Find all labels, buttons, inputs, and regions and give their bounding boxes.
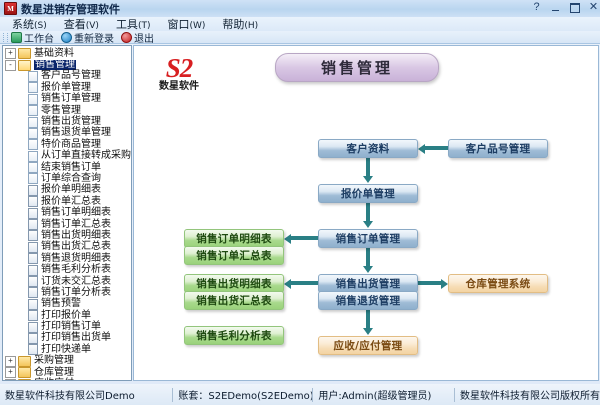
workbench-button[interactable]: 工作台 [11, 30, 54, 45]
relogin-icon [61, 32, 72, 43]
tree-item[interactable]: 销售预警 [16, 299, 131, 310]
folder-icon [18, 48, 31, 59]
tree-item-label: 销售毛利分析表 [41, 265, 111, 275]
exit-icon [121, 32, 132, 43]
flow-box-label: 销售订单明细表 [196, 231, 272, 246]
tree-item-label: 结束销售订单 [41, 163, 101, 173]
report-icon [28, 310, 38, 321]
tree-item[interactable]: 打印快递单 [16, 344, 131, 355]
close-button[interactable]: ✕ [587, 1, 600, 14]
tree-item[interactable]: +基础资料 [5, 48, 131, 59]
flow-box-label: 应收/应付管理 [334, 338, 403, 353]
tree-expander-spacer [16, 118, 25, 127]
tree-item[interactable]: 销售毛利分析表 [16, 264, 131, 275]
brand-logo: S2 数星软件 [144, 56, 214, 92]
status-bookset: 账套：S2EDemo(S2EDemo) [172, 388, 312, 402]
arrow-delivery-to-warehouse [418, 281, 441, 285]
flow-box-label: 报价单管理 [341, 186, 395, 201]
tree-item-label: 销售退货明细表 [41, 254, 111, 264]
restore-button[interactable] [568, 1, 581, 14]
arrowhead-salesorder-to-orderreport [284, 234, 291, 244]
toolbar-grip[interactable] [3, 33, 8, 42]
flow-box-label: 销售出货管理 [336, 276, 401, 291]
document-icon [28, 162, 38, 173]
close-icon: ✕ [589, 2, 598, 13]
tree-expander-icon[interactable]: - [5, 60, 16, 71]
arrow-custitem-to-customer [425, 146, 448, 150]
status-company: 数星软件科技有限公司Demo [0, 388, 172, 402]
flow-box-order-summary-report[interactable]: 销售订单汇总表 [184, 246, 284, 265]
report-icon [28, 322, 38, 333]
tree-item[interactable]: 特价商品管理 [16, 139, 131, 150]
tree-expander-spacer [16, 140, 25, 149]
minimize-icon [552, 10, 559, 11]
tree-expander-spacer [16, 163, 25, 172]
arrow-salesorder-to-delivery [366, 248, 370, 267]
tree-item[interactable]: +仓库管理 [5, 367, 131, 378]
tree-item[interactable]: 销售出货明细表 [16, 230, 131, 241]
arrow-quotation-to-salesorder [366, 203, 370, 222]
tree-expander-spacer [16, 311, 25, 320]
tree-item[interactable]: 销售退货明细表 [16, 253, 131, 264]
tree-expander-spacer [16, 95, 25, 104]
exit-label: 退出 [134, 30, 154, 45]
tree-item-label: 销售订单汇总表 [41, 220, 111, 230]
report-icon [28, 219, 38, 230]
tree-item[interactable]: 客户品号管理 [16, 71, 131, 82]
document-icon [28, 128, 38, 139]
report-icon [28, 253, 38, 264]
tree-expander-spacer [16, 288, 25, 297]
flow-box-customer-item-mgmt[interactable]: 客户品号管理 [448, 139, 548, 158]
tree-item[interactable]: 订单综合查询 [16, 173, 131, 184]
tree-item-label: 销售订单分析表 [41, 288, 111, 298]
menu-window-mnemonic: (W) [189, 21, 205, 31]
tree-item-label: 采购管理 [34, 356, 74, 366]
document-icon [28, 139, 38, 150]
tree-expander-spacer [16, 83, 25, 92]
tree-expander-spacer [16, 197, 25, 206]
tree-item-label: 客户品号管理 [41, 71, 101, 81]
arrow-delivery-to-shipreport [291, 281, 318, 285]
tree-expander-spacer [16, 334, 25, 343]
tree-item[interactable]: 销售订单分析表 [16, 287, 131, 298]
report-icon [28, 287, 38, 298]
menu-help-mnemonic: (H) [244, 21, 258, 31]
tree-item-label: 特价商品管理 [41, 140, 101, 150]
menu-help[interactable]: 帮助(H) [222, 16, 258, 32]
workbench-label: 工作台 [24, 30, 54, 45]
tree-item[interactable]: 销售订单明细表 [16, 207, 131, 218]
report-icon [28, 344, 38, 355]
report-icon [28, 242, 38, 253]
tree-item-label: 销售出货管理 [41, 117, 101, 127]
tree-item-label: 应收应付 [34, 379, 74, 381]
arrowhead-customer-to-quotation [363, 176, 373, 183]
flow-box-gross-profit-report[interactable]: 销售毛利分析表 [184, 326, 284, 345]
flow-box-label: 销售退货管理 [336, 293, 401, 308]
report-icon [28, 333, 38, 344]
menu-help-label: 帮助 [222, 18, 244, 31]
logo-subtitle: 数星软件 [144, 81, 214, 92]
tree-expander-spacer [16, 254, 25, 263]
flow-box-label: 销售毛利分析表 [196, 328, 272, 343]
tree-expander-icon[interactable]: + [5, 48, 16, 59]
flow-box-quotation-mgmt[interactable]: 报价单管理 [318, 184, 418, 203]
report-icon [28, 230, 38, 241]
report-icon [28, 276, 38, 287]
tree-expander-spacer [16, 220, 25, 229]
tree-item[interactable]: 打印报价单 [16, 310, 131, 321]
document-icon [28, 105, 38, 116]
tree-expander-spacer [16, 345, 25, 354]
arrowhead-return-to-arap [363, 328, 373, 335]
flow-box-label: 销售出货汇总表 [196, 293, 272, 308]
module-tree[interactable]: +基础资料-销售管理客户品号管理报价单管理销售订单管理零售管理销售出货管理销售退… [3, 46, 131, 381]
report-icon [28, 208, 38, 219]
arrow-return-to-arap [366, 310, 370, 329]
flow-box-label: 仓库管理系统 [466, 276, 531, 291]
arrowhead-delivery-to-shipreport [284, 279, 291, 289]
tree-item-label: 订货未交汇总表 [41, 277, 111, 287]
tree-expander-spacer [16, 72, 25, 81]
help-button[interactable]: ? [530, 1, 543, 14]
flow-box-sales-return-mgmt[interactable]: 销售退货管理 [318, 291, 418, 310]
tree-item[interactable]: 销售订单汇总表 [16, 219, 131, 230]
tree-expander-spacer [16, 300, 25, 309]
tree-item-label: 销售订单管理 [41, 94, 101, 104]
logo-mark: S2 [144, 56, 214, 81]
flow-box-warehouse-system[interactable]: 仓库管理系统 [448, 274, 548, 293]
tree-item[interactable]: +采购管理 [5, 356, 131, 367]
tree-item[interactable]: +应收应付 [5, 378, 131, 381]
tree-item-label: 销售预警 [41, 299, 81, 309]
workbench-icon [11, 32, 22, 43]
report-icon [28, 185, 38, 196]
tree-expander-icon[interactable]: + [5, 379, 16, 381]
tree-item[interactable]: 报价单管理 [16, 82, 131, 93]
document-icon [28, 117, 38, 128]
status-bar: 数星软件科技有限公司Demo 账套：S2EDemo(S2EDemo) 用户:Ad… [0, 384, 600, 405]
minimize-button[interactable] [549, 1, 562, 14]
tree-item-label: 打印销售订单 [41, 322, 101, 332]
tree-item-label: 报价单汇总表 [41, 197, 101, 207]
tree-expander-spacer [16, 323, 25, 332]
tree-expander-icon[interactable]: + [5, 356, 16, 367]
exit-button[interactable]: 退出 [121, 30, 154, 45]
flow-box-label: 客户品号管理 [466, 141, 531, 156]
document-icon [28, 151, 38, 162]
relogin-label: 重新登录 [74, 30, 114, 45]
document-icon [28, 71, 38, 82]
flow-box-label: 销售订单管理 [336, 231, 401, 246]
tree-item-label: 销售管理 [34, 60, 76, 70]
arrow-customer-to-quotation [366, 158, 370, 177]
tree-item[interactable]: 销售订单管理 [16, 94, 131, 105]
tree-expander-spacer [16, 152, 25, 161]
tree-expander-spacer [16, 266, 25, 275]
tree-item-label: 打印报价单 [41, 311, 91, 321]
tree-item[interactable]: 零售管理 [16, 105, 131, 116]
tree-item-label: 打印销售出货单 [41, 333, 111, 343]
flow-box-customer-info[interactable]: 客户资料 [318, 139, 418, 158]
tree-item-label: 零售管理 [41, 106, 81, 116]
flow-box-label: 销售出货明细表 [196, 276, 272, 291]
tree-item-label: 从订单直接转成采购单 [41, 151, 132, 161]
folder-icon [18, 379, 31, 381]
tree-expander-spacer [16, 186, 25, 195]
arrowhead-salesorder-to-delivery [363, 266, 373, 273]
folder-open-icon [18, 60, 31, 71]
tree-item-label: 报价单明细表 [41, 185, 101, 195]
folder-icon [18, 367, 31, 378]
folder-icon [18, 356, 31, 367]
help-icon: ? [533, 2, 539, 13]
tree-expander-spacer [16, 174, 25, 183]
flow-box-sales-order-mgmt[interactable]: 销售订单管理 [318, 229, 418, 248]
page-title-banner: 销售管理 [275, 53, 439, 82]
tree-item[interactable]: 报价单明细表 [16, 185, 131, 196]
arrowhead-custitem-to-customer [418, 144, 425, 154]
window-title: 数星进销存管理软件 [21, 1, 120, 17]
tree-item-label: 销售订单明细表 [41, 208, 111, 218]
arrow-salesorder-to-orderreport [291, 236, 318, 240]
report-icon [28, 196, 38, 207]
status-copyright: 数星软件科技有限公司版权所有 [454, 388, 600, 402]
relogin-button[interactable]: 重新登录 [61, 30, 114, 45]
menu-window[interactable]: 窗口(W) [167, 16, 205, 32]
tree-item-label: 销售退货单管理 [41, 128, 111, 138]
tree-expander-spacer [16, 231, 25, 240]
document-icon [28, 173, 38, 184]
report-icon [28, 299, 38, 310]
tree-item-label: 仓库管理 [34, 368, 74, 378]
application-window: M 数星进销存管理软件 ? ✕ 系统(S) 查看(V) 工具(T) 窗口(W) … [0, 0, 600, 405]
menu-window-label: 窗口 [167, 18, 189, 31]
tree-item-label: 基础资料 [34, 49, 74, 59]
tree-expander-spacer [16, 209, 25, 218]
tree-expander-spacer [16, 243, 25, 252]
tree-item[interactable]: 结束销售订单 [16, 162, 131, 173]
tool-bar: 工作台 重新登录 退出 [0, 31, 600, 44]
tree-item-label: 销售出货明细表 [41, 231, 111, 241]
document-icon [28, 94, 38, 105]
document-icon [28, 82, 38, 93]
app-logo-icon: M [4, 2, 17, 15]
tree-expander-icon[interactable]: + [5, 367, 16, 378]
tree-item-label: 销售出货汇总表 [41, 242, 111, 252]
flow-box-label: 销售订单汇总表 [196, 248, 272, 263]
page-title: 销售管理 [321, 57, 393, 78]
flow-box-label: 客户资料 [346, 141, 389, 156]
tree-item-label: 打印快递单 [41, 345, 91, 355]
main-content-panel: S2 数星软件 销售管理 客户资料客户品号管理报价单管理销售订单管理销售出货管理… [133, 45, 599, 381]
tree-expander-spacer [16, 277, 25, 286]
tree-item[interactable]: 从订单直接转成采购单 [16, 151, 131, 162]
report-icon [28, 265, 38, 276]
window-controls: ? ✕ [530, 1, 600, 14]
restore-icon [570, 3, 580, 13]
tree-item[interactable]: 销售退货单管理 [16, 128, 131, 139]
tree-item[interactable]: 订货未交汇总表 [16, 276, 131, 287]
tree-item-label: 报价单管理 [41, 83, 91, 93]
status-user: 用户:Admin(超级管理员) [312, 388, 454, 402]
tree-expander-spacer [16, 106, 25, 115]
flow-box-ar-ap-mgmt[interactable]: 应收/应付管理 [318, 336, 418, 355]
tree-item-label: 订单综合查询 [41, 174, 101, 184]
arrowhead-quotation-to-salesorder [363, 221, 373, 228]
tree-item[interactable]: 打印销售出货单 [16, 333, 131, 344]
arrowhead-delivery-to-warehouse [441, 279, 448, 289]
flow-box-ship-summary-report[interactable]: 销售出货汇总表 [184, 291, 284, 310]
tree-item[interactable]: 报价单汇总表 [16, 196, 131, 207]
navigation-sidebar[interactable]: +基础资料-销售管理客户品号管理报价单管理销售订单管理零售管理销售出货管理销售退… [2, 45, 132, 381]
tree-expander-spacer [16, 129, 25, 138]
tree-item[interactable]: 销售出货汇总表 [16, 242, 131, 253]
